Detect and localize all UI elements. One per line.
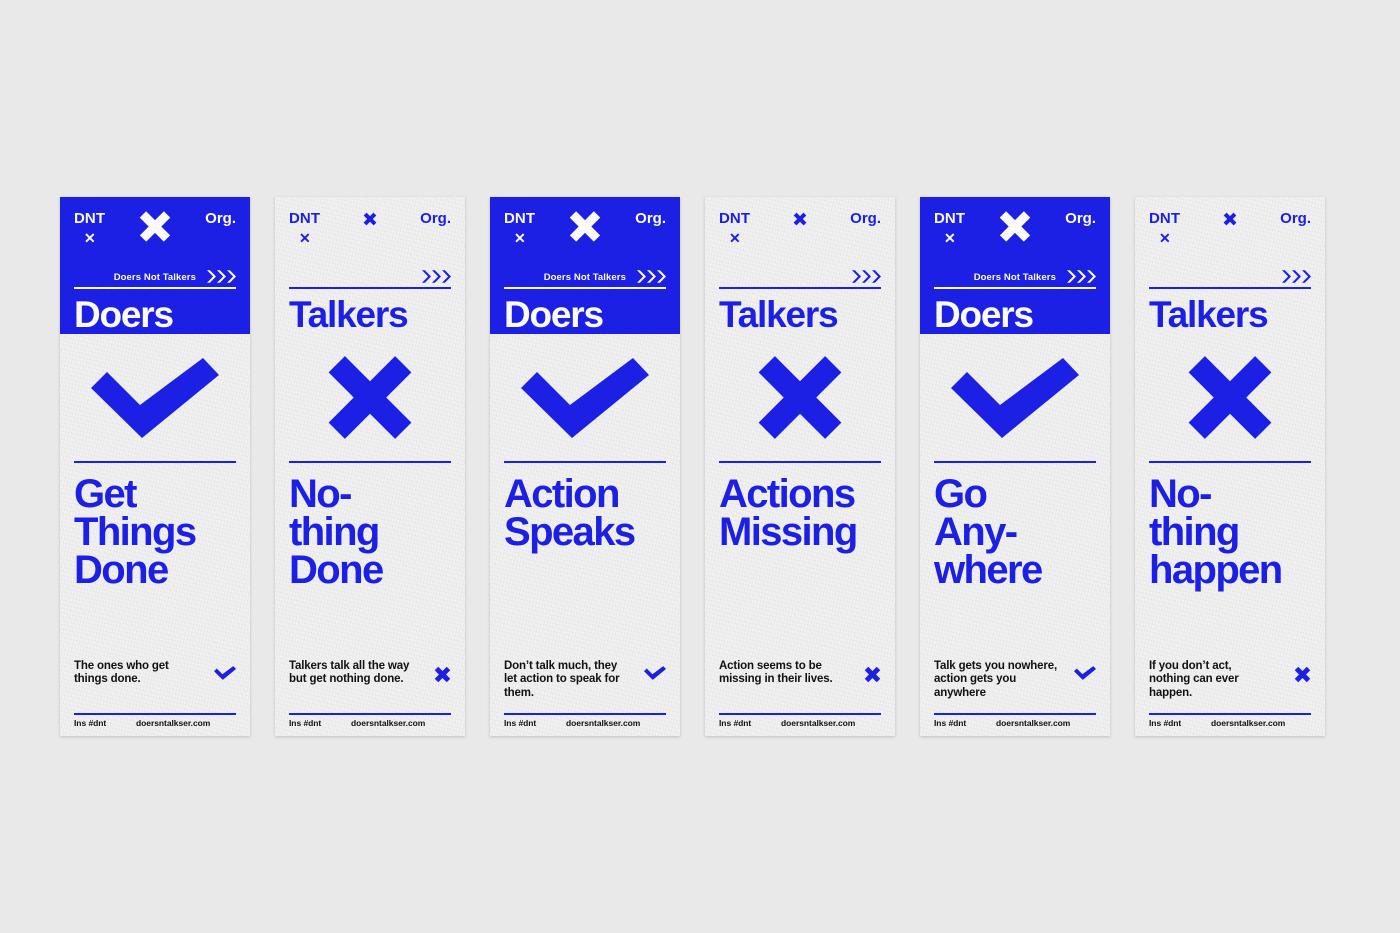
- org-label: Org.: [1280, 211, 1311, 226]
- card-header: DNT✕Org.Talkers: [275, 197, 465, 334]
- footer-blurb: If you don’t act, nothing can ever happe…: [1149, 660, 1275, 701]
- brand-abbrev: DNT: [74, 211, 105, 226]
- footer-meta: Ins #dntdoersntalkser.com: [289, 719, 451, 728]
- headline-divider: [719, 461, 881, 463]
- brand-abbrev: DNT: [289, 211, 320, 226]
- org-label: Org.: [420, 211, 451, 226]
- website-url[interactable]: doersntalkser.com: [566, 719, 640, 728]
- symbol-area: [705, 334, 895, 461]
- headline: Go Any- where: [934, 475, 1096, 660]
- brand-abbrev: DNT: [504, 211, 535, 226]
- footer-mark: [1294, 666, 1311, 683]
- footer-mark: [864, 666, 881, 683]
- check-icon: [521, 358, 649, 438]
- headline: Actions Missing: [719, 475, 881, 660]
- header-tag-row: Doers Not Talkers: [74, 265, 236, 282]
- footer-blurb: Don’t talk much, they let action to spea…: [504, 660, 630, 701]
- headline-divider: [1149, 461, 1311, 463]
- website-url[interactable]: doersntalkser.com: [1211, 719, 1285, 728]
- header-divider: [74, 287, 236, 289]
- card-title: Talkers: [719, 296, 881, 333]
- symbol-area: [275, 334, 465, 461]
- card-header: DNT✕Org.Talkers: [705, 197, 895, 334]
- footer-meta: Ins #dntdoersntalkser.com: [74, 719, 236, 728]
- footer-meta: Ins #dntdoersntalkser.com: [1149, 719, 1311, 728]
- poster-card: DNT✕Org.TalkersNo- thing DoneTalkers tal…: [275, 197, 465, 736]
- social-handle: Ins #dnt: [719, 719, 781, 728]
- poster-grid: DNT✕Org.Doers Not TalkersDoersGet Things…: [60, 197, 1325, 736]
- poster-card: DNT✕Org.TalkersNo- thing happenIf you do…: [1135, 197, 1325, 736]
- footer-meta: Ins #dntdoersntalkser.com: [719, 719, 881, 728]
- headline-divider: [504, 461, 666, 463]
- org-label: Org.: [1065, 211, 1096, 226]
- headline: No- thing Done: [289, 475, 451, 660]
- header-tag-row: [719, 265, 881, 282]
- footer-divider: [289, 713, 451, 715]
- card-title: Talkers: [289, 296, 451, 333]
- header-tag-row: [289, 265, 451, 282]
- mini-cross-icon: [1294, 666, 1311, 683]
- header-divider: [1149, 287, 1311, 289]
- footer-divider: [504, 713, 666, 715]
- mini-cross-icon: [864, 666, 881, 683]
- headline: Get Things Done: [74, 475, 236, 660]
- small-x-icon: ✕: [1159, 231, 1171, 245]
- small-x-icon: ✕: [299, 231, 311, 245]
- small-x-icon: ✕: [84, 231, 96, 245]
- org-label: Org.: [635, 211, 666, 226]
- card-footer: Talkers talk all the way but get nothing…: [289, 660, 451, 728]
- triple-chevron-right-icon: [207, 270, 236, 283]
- brand-abbrev: DNT: [1149, 211, 1180, 226]
- footer-blurb: Talk gets you nowhere, action gets you a…: [934, 660, 1060, 701]
- cross-icon: [753, 351, 847, 445]
- footer-row: Don’t talk much, they let action to spea…: [504, 660, 666, 708]
- card-footer: Talk gets you nowhere, action gets you a…: [934, 660, 1096, 728]
- header-divider: [719, 287, 881, 289]
- triple-chevron-right-icon: [1282, 270, 1311, 283]
- small-x-icon: ✕: [514, 231, 526, 245]
- footer-row: The ones who get things done.: [74, 660, 236, 708]
- mini-check-icon: [644, 666, 666, 680]
- footer-meta: Ins #dntdoersntalkser.com: [934, 719, 1096, 728]
- header-top-row: DNT✕Org.: [1149, 211, 1311, 265]
- header-tag-row: [1149, 265, 1311, 282]
- social-handle: Ins #dnt: [74, 719, 136, 728]
- headline-divider: [74, 461, 236, 463]
- footer-blurb: The ones who get things done.: [74, 660, 200, 687]
- mini-check-icon: [214, 666, 236, 680]
- footer-mark: [214, 666, 236, 685]
- triple-chevron-right-icon: [1067, 270, 1096, 283]
- card-title: Doers: [934, 296, 1096, 333]
- poster-card: DNT✕Org.TalkersActions MissingAction see…: [705, 197, 895, 736]
- card-footer: Don’t talk much, they let action to spea…: [504, 660, 666, 728]
- footer-mark: [1074, 666, 1096, 685]
- card-title: Doers: [74, 296, 236, 333]
- footer-blurb: Action seems to be missing in their live…: [719, 660, 845, 687]
- header-tag-row: Doers Not Talkers: [504, 265, 666, 282]
- org-label: Org.: [850, 211, 881, 226]
- website-url[interactable]: doersntalkser.com: [781, 719, 855, 728]
- footer-row: Talk gets you nowhere, action gets you a…: [934, 660, 1096, 708]
- footer-meta: Ins #dntdoersntalkser.com: [504, 719, 666, 728]
- footer-divider: [74, 713, 236, 715]
- header-cross-icon: [793, 212, 807, 226]
- symbol-area: [60, 334, 250, 461]
- header-top-row: DNT✕Org.: [289, 211, 451, 265]
- brand-abbrev: DNT: [719, 211, 750, 226]
- header-divider: [289, 287, 451, 289]
- headline-divider: [934, 461, 1096, 463]
- small-x-icon: ✕: [944, 231, 956, 245]
- check-icon: [951, 358, 1079, 438]
- website-url[interactable]: doersntalkser.com: [136, 719, 210, 728]
- header-top-row: DNT✕Org.: [719, 211, 881, 265]
- footer-row: If you don’t act, nothing can ever happe…: [1149, 660, 1311, 708]
- website-url[interactable]: doersntalkser.com: [351, 719, 425, 728]
- card-header: DNT✕Org.Doers Not TalkersDoers: [920, 197, 1110, 334]
- card-footer: The ones who get things done.Ins #dntdoe…: [74, 660, 236, 728]
- symbol-area: [920, 334, 1110, 461]
- cross-icon: [1183, 351, 1277, 445]
- symbol-area: [490, 334, 680, 461]
- footer-divider: [934, 713, 1096, 715]
- social-handle: Ins #dnt: [934, 719, 996, 728]
- poster-card: DNT✕Org.Doers Not TalkersDoersGo Any- wh…: [920, 197, 1110, 736]
- social-handle: Ins #dnt: [289, 719, 351, 728]
- card-header: DNT✕Org.Doers Not TalkersDoers: [490, 197, 680, 334]
- header-cross-icon: [1223, 212, 1237, 226]
- cross-icon: [323, 351, 417, 445]
- poster-card: DNT✕Org.Doers Not TalkersDoersGet Things…: [60, 197, 250, 736]
- social-handle: Ins #dnt: [504, 719, 566, 728]
- header-cross-icon: [138, 209, 172, 243]
- brand-abbrev: DNT: [934, 211, 965, 226]
- mini-check-icon: [1074, 666, 1096, 680]
- tagline: Doers Not Talkers: [544, 273, 626, 283]
- small-x-icon: ✕: [729, 231, 741, 245]
- header-cross-icon: [998, 209, 1032, 243]
- card-title: Talkers: [1149, 296, 1311, 333]
- symbol-area: [1135, 334, 1325, 461]
- headline: Action Speaks: [504, 475, 666, 660]
- org-label: Org.: [205, 211, 236, 226]
- footer-row: Talkers talk all the way but get nothing…: [289, 660, 451, 708]
- header-cross-icon: [363, 212, 377, 226]
- header-top-row: DNT✕Org.: [934, 211, 1096, 265]
- card-title: Doers: [504, 296, 666, 333]
- card-footer: Action seems to be missing in their live…: [719, 660, 881, 728]
- footer-divider: [1149, 713, 1311, 715]
- footer-mark: [644, 666, 666, 685]
- card-footer: If you don’t act, nothing can ever happe…: [1149, 660, 1311, 728]
- triple-chevron-right-icon: [852, 270, 881, 283]
- card-header: DNT✕Org.Doers Not TalkersDoers: [60, 197, 250, 334]
- tagline: Doers Not Talkers: [974, 273, 1056, 283]
- poster-card: DNT✕Org.Doers Not TalkersDoersAction Spe…: [490, 197, 680, 736]
- tagline: Doers Not Talkers: [114, 273, 196, 283]
- triple-chevron-right-icon: [422, 270, 451, 283]
- headline-divider: [289, 461, 451, 463]
- triple-chevron-right-icon: [637, 270, 666, 283]
- header-top-row: DNT✕Org.: [504, 211, 666, 265]
- footer-mark: [434, 666, 451, 683]
- footer-blurb: Talkers talk all the way but get nothing…: [289, 660, 415, 687]
- header-tag-row: Doers Not Talkers: [934, 265, 1096, 282]
- check-icon: [91, 358, 219, 438]
- footer-row: Action seems to be missing in their live…: [719, 660, 881, 708]
- header-divider: [504, 287, 666, 289]
- website-url[interactable]: doersntalkser.com: [996, 719, 1070, 728]
- header-cross-icon: [568, 209, 602, 243]
- footer-divider: [719, 713, 881, 715]
- mini-cross-icon: [434, 666, 451, 683]
- card-header: DNT✕Org.Talkers: [1135, 197, 1325, 334]
- header-top-row: DNT✕Org.: [74, 211, 236, 265]
- headline: No- thing happen: [1149, 475, 1311, 660]
- social-handle: Ins #dnt: [1149, 719, 1211, 728]
- header-divider: [934, 287, 1096, 289]
